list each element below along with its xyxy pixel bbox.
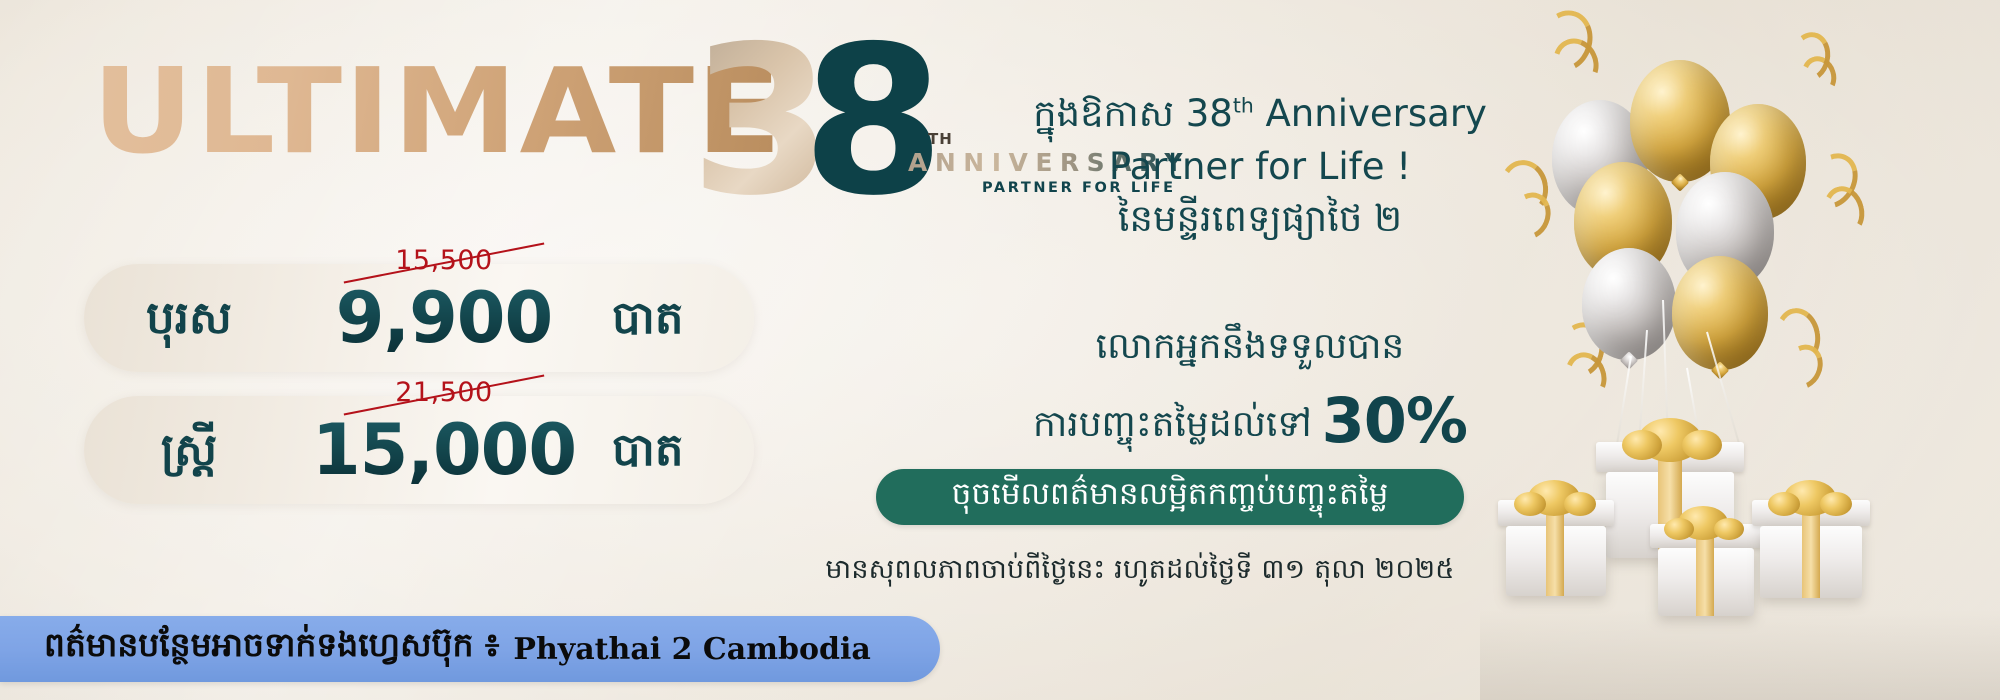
gift-bow-icon [1714, 518, 1744, 540]
price-values: 21,500 15,000 [294, 415, 594, 485]
gift-bow-icon [1622, 430, 1662, 460]
gift-box-center-small [1650, 524, 1762, 616]
offer-block: លោកអ្នកនឹងទទួលបាន ការបញ្ចុះតម្លៃដល់ទៅ30% [930, 320, 1570, 467]
gift-bow-icon [1514, 492, 1546, 516]
headline-line-3: នៃមន្ទីរពេទ្យផ្យាថៃ ២ [980, 193, 1540, 246]
gift-bow-icon [1664, 518, 1694, 540]
headline-line-2: Partner for Life ! [980, 141, 1540, 194]
headline-block: ក្នុងឱកាស 38th Anniversary Partner for L… [980, 88, 1540, 246]
price-card-label: ស្ត្រី [84, 424, 294, 476]
gift-bow-icon [1820, 492, 1852, 516]
new-price: 9,900 [294, 283, 594, 353]
headline-line-1: ក្នុងឱកាស 38th Anniversary [980, 88, 1540, 141]
price-values: 15,500 9,900 [294, 283, 594, 353]
balloon-gold [1672, 256, 1768, 370]
gift-box-right [1752, 500, 1870, 598]
gift-bow-icon [1682, 430, 1722, 460]
offer-line-1: លោកអ្នកនឹងទទួលបាន [930, 320, 1570, 374]
offer-line-2-wrap: ការបញ្ចុះតម្លៃដល់ទៅ30% [930, 374, 1570, 467]
contact-bar: ពត៌មានបន្ថែមអាចទាក់ទងហ្វេសប៊ុក ៖ Phyatha… [0, 616, 940, 682]
headline-english: Anniversary [1266, 92, 1487, 135]
offer-line-2: ការបញ្ចុះតម្លៃដល់ទៅ [1033, 404, 1312, 445]
new-price: 15,000 [294, 415, 594, 485]
gift-box-left [1498, 500, 1614, 596]
price-currency: បាត [594, 292, 754, 344]
logo-digit-8: 8 [802, 20, 945, 225]
old-price: 15,500 [294, 245, 594, 276]
logo-ordinal-suffix: TH [928, 130, 953, 148]
facebook-page-name[interactable]: Phyathai 2 Cambodia [513, 632, 870, 667]
headline-number: 38 [1186, 92, 1233, 135]
anniversary-logo: 3 8 TH ANNIVERSARY PARTNER FOR LIFE [690, 20, 950, 210]
validity-note: មានសុពលភាពចាប់ពីថ្ងៃនេះ រហូតដល់ថ្ងៃទី ៣១… [760, 553, 1520, 592]
price-card-label: បុរស [84, 292, 294, 344]
celebration-artwork [1480, 0, 2000, 700]
gift-bow-icon [1768, 492, 1800, 516]
headline-ordinal: th [1233, 94, 1254, 118]
price-card-female: ស្ត្រី 21,500 15,000 បាត [84, 396, 754, 504]
gift-bow-icon [1564, 492, 1596, 516]
price-card-male: បុរស 15,500 9,900 បាត [84, 264, 754, 372]
price-currency: បាត [594, 424, 754, 476]
headline-khmer-prefix: ក្នុងឱកាស [1033, 92, 1174, 135]
contact-bar-khmer: ពត៌មានបន្ថែមអាចទាក់ទងហ្វេសប៊ុក ៖ [44, 625, 499, 673]
old-price: 21,500 [294, 377, 594, 408]
discount-percent: 30% [1322, 384, 1467, 457]
details-cta-button[interactable]: ចុចមើលពត៌មានលម្អិតកញ្ចប់បញ្ចុះតម្លៃ [876, 469, 1464, 525]
ground-shadow [1480, 610, 2000, 700]
promo-banner: ULTIMATE 3 8 TH ANNIVERSARY PARTNER FOR … [0, 0, 2000, 700]
ultimate-wordmark: ULTIMATE [92, 52, 784, 170]
